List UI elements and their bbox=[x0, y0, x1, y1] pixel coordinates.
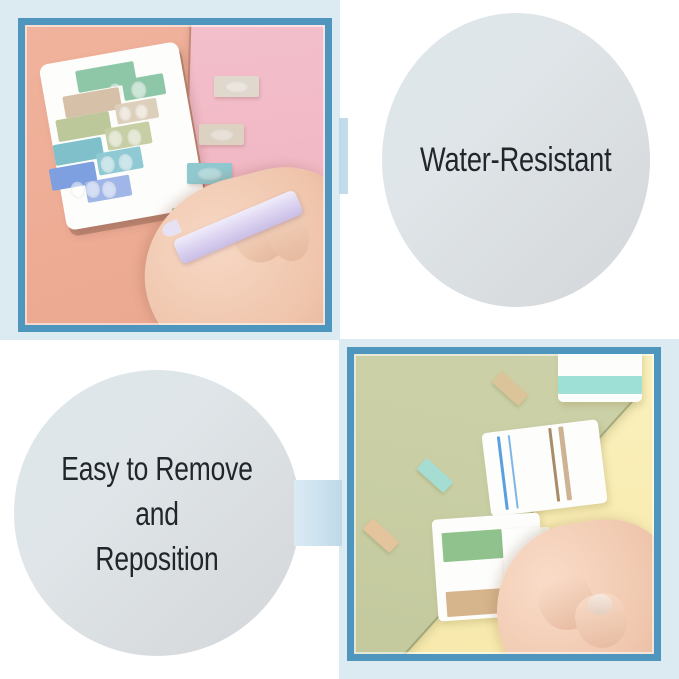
tab-sheet-striped bbox=[481, 419, 607, 517]
edge-tab-cream bbox=[214, 76, 259, 97]
edge-tab-bump bbox=[197, 167, 222, 180]
strip-tan-line bbox=[558, 427, 572, 501]
feature-bubble-easy-remove: Easy to Remove and Reposition bbox=[14, 370, 300, 656]
feature-label: Water-Resistant bbox=[420, 140, 612, 180]
strip-mint bbox=[558, 376, 642, 394]
strip-blue-line bbox=[497, 436, 509, 510]
strip-brown-line bbox=[548, 428, 560, 502]
product-feature-collage: Water Resist Water-Resistant Easy to Rem… bbox=[0, 0, 679, 679]
photo-panel-top-left: Water Resist bbox=[18, 18, 332, 332]
photo-bottom-right bbox=[354, 354, 654, 654]
pad-tab-sage bbox=[55, 111, 112, 142]
feature-bubble-water-resistant: Water-Resistant bbox=[382, 13, 650, 307]
strip-blue-line-2 bbox=[507, 435, 518, 509]
callout-panel-top-right: Water-Resistant bbox=[348, 0, 679, 330]
tab-sheet-mint bbox=[558, 354, 642, 402]
strip-green bbox=[441, 529, 503, 562]
fingernail bbox=[588, 594, 612, 615]
edge-tab-beige bbox=[199, 124, 244, 145]
edge-tab-bump bbox=[209, 128, 234, 141]
callout-panel-bottom-left: Easy to Remove and Reposition bbox=[0, 349, 331, 679]
connector-ribbon-bottom bbox=[294, 480, 342, 546]
photo-panel-bottom-right bbox=[347, 347, 661, 661]
photo-top-left: Water Resist bbox=[25, 25, 325, 325]
edge-tab-bump bbox=[224, 80, 249, 93]
feature-label: Easy to Remove and Reposition bbox=[43, 446, 272, 581]
